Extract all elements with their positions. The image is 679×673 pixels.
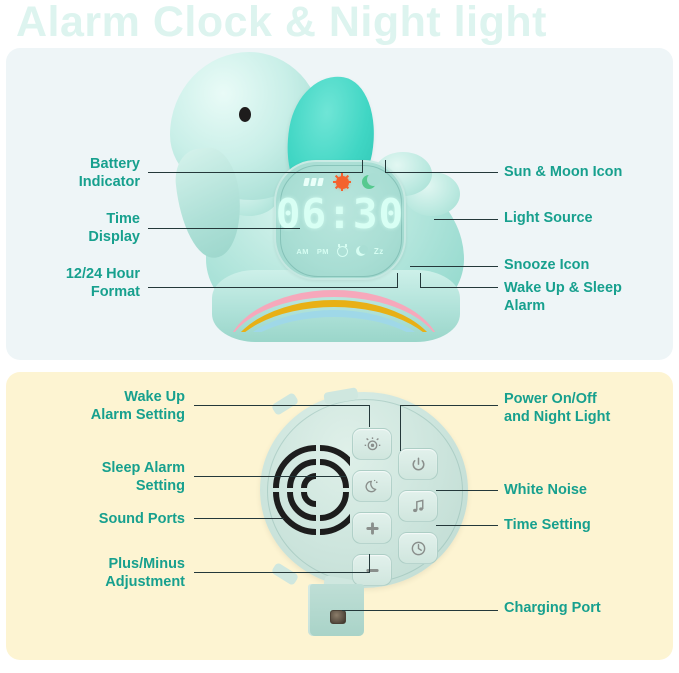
leader-power-hook [400,405,401,451]
page-title: Alarm Clock & Night light [16,0,676,47]
infographic-canvas: Alarm Clock & Night light 06:30 [0,0,679,673]
label-plus-minus-adjustment: Plus/Minus Adjustment [55,555,185,591]
label-wake-up-alarm-setting: Wake Up Alarm Setting [55,388,185,424]
leader-plus-minus-adjustment [194,572,370,573]
leader-wake-up-hook [369,405,370,427]
minus-icon [364,562,381,579]
alarm-icon [364,436,381,453]
alarm-icon [337,246,348,257]
leader-snooze-icon [410,266,498,267]
label-sleep-alarm-setting: Sleep Alarm Setting [55,459,185,495]
time-button[interactable] [398,532,438,564]
clock-icon [410,540,427,557]
label-battery-indicator: Battery Indicator [25,155,140,191]
leader-sound-ports [194,518,284,519]
leader-time-setting [436,525,498,526]
moon-icon [364,478,381,495]
charging-port-icon [330,610,346,624]
leader-charging-port [342,610,498,611]
snooze-zz-icon: Zz [374,247,384,256]
leader-sun-moon-icon [385,172,498,173]
label-sound-ports: Sound Ports [55,510,185,528]
label-hour-format: 12/24 Hour Format [20,265,140,301]
alarm-button[interactable] [352,428,392,460]
label-white-noise: White Noise [504,481,679,499]
leader-battery-indicator [148,172,363,173]
leader-white-noise [436,490,498,491]
leader-wake-sleep-hook [420,273,421,288]
elephant-eye [239,107,251,122]
sleep-button[interactable] [352,470,392,502]
label-time-setting: Time Setting [504,516,679,534]
label-power-night-light: Power On/Off and Night Light [504,390,679,426]
white-noise-button[interactable] [398,490,438,522]
display-top-indicators [274,174,406,190]
elephant-clock-front: 06:30 AM PM Zz [178,52,478,342]
sun-icon [336,176,349,189]
power-icon [410,456,427,473]
label-wake-sleep-alarm: Wake Up & Sleep Alarm [504,279,674,315]
time-readout: 06:30 [274,190,406,238]
clock-back-view [260,392,485,640]
leader-time-display [148,228,300,229]
label-light-source: Light Source [504,209,674,227]
speaker-grille-icon [270,444,350,536]
moon-icon [362,175,376,189]
leader-plus-minus-hook [369,554,370,573]
rainbow-stripe [226,290,442,332]
leader-hour-format-hook [397,273,398,288]
clock-display-face: 06:30 AM PM Zz [274,160,406,280]
label-time-display: Time Display [25,210,140,246]
minus-button[interactable] [352,554,392,586]
music-note-icon [410,498,427,515]
battery-icon [304,178,322,186]
display-bottom-indicators: AM PM Zz [274,244,406,258]
leader-battery-hook [362,160,363,173]
leader-power-night-light [400,405,498,406]
leader-sun-moon-hook [385,160,386,173]
plus-icon [364,520,381,537]
leader-light-source [434,219,498,220]
leader-wake-up-alarm-setting [194,405,370,406]
leader-wake-sleep-alarm [420,287,498,288]
plus-button[interactable] [352,512,392,544]
am-indicator: AM [296,247,308,256]
label-charging-port: Charging Port [504,599,679,617]
power-button[interactable] [398,448,438,480]
label-sun-moon-icon: Sun & Moon Icon [504,163,674,181]
shell-notch-bottom-left [271,562,299,586]
sleep-moon-icon [356,246,366,256]
pm-indicator: PM [317,247,329,256]
leader-sleep-alarm-setting [194,476,346,477]
shell-notch-top-left [271,392,299,416]
label-snooze-icon: Snooze Icon [504,256,674,274]
leader-hour-format [148,287,398,288]
